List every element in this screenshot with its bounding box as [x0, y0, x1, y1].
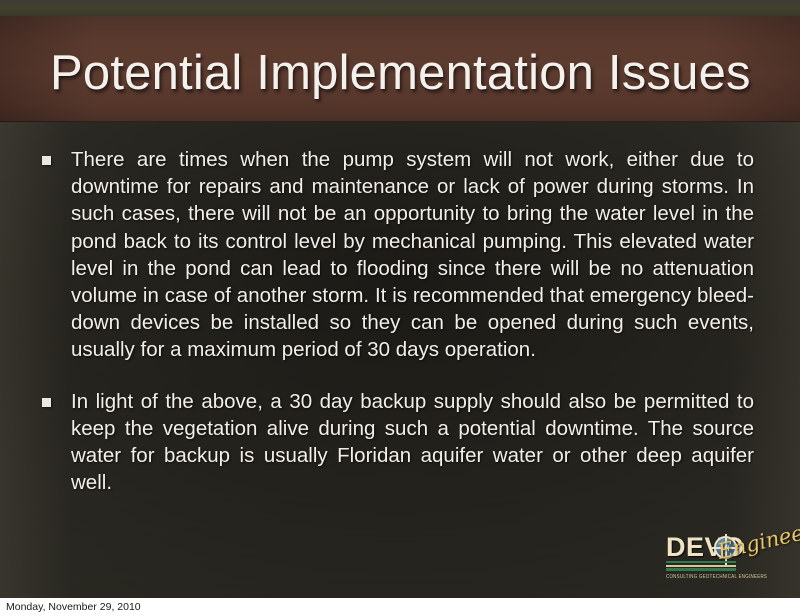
- presentation-slide: Potential Implementation Issues There ar…: [0, 0, 800, 616]
- bullet-item: In light of the above, a 30 day backup s…: [42, 388, 754, 497]
- logo-stripe-tan: [666, 565, 736, 567]
- bullet-paragraph: In light of the above, a 30 day backup s…: [71, 388, 754, 497]
- logo-stripe-green-bottom: [666, 568, 736, 570]
- top-accent-strip: [0, 0, 800, 16]
- bullet-item: There are times when the pump system wil…: [42, 146, 754, 364]
- footer-date: Monday, November 29, 2010: [6, 601, 141, 613]
- slide-content: There are times when the pump system wil…: [42, 146, 754, 520]
- slide-footer: Monday, November 29, 2010: [0, 598, 800, 616]
- title-band: Potential Implementation Issues: [0, 16, 800, 122]
- square-bullet-icon: [42, 156, 51, 165]
- bullet-paragraph: There are times when the pump system wil…: [71, 146, 754, 364]
- devo-engineering-logo: DEVO CONSULTING GEOTECHNICAL ENGINEERS E…: [664, 528, 796, 590]
- slide-title: Potential Implementation Issues: [50, 42, 751, 104]
- square-bullet-icon: [42, 398, 51, 407]
- logo-tagline: CONSULTING GEOTECHNICAL ENGINEERS: [666, 573, 738, 579]
